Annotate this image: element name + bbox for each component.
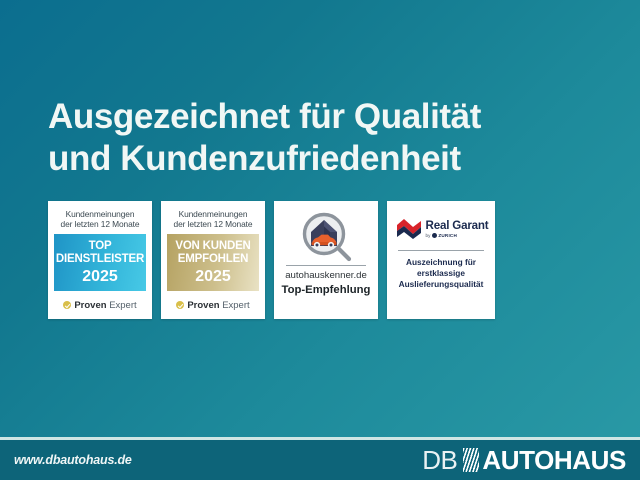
badge-award-line-1: TOP	[89, 240, 112, 253]
badge-award-line-1: VON KUNDEN	[175, 240, 250, 253]
zurich-wordmark: ZURICH	[438, 233, 457, 238]
logo-autohaus-text: AUTOHAUS	[482, 445, 626, 476]
badge-provenexpert-von-kunden-empfohlen[interactable]: Kundenmeinungen der letzten 12 Monate VO…	[161, 201, 265, 319]
badge-header-line-1: Kundenmeinungen	[161, 209, 265, 219]
headline-line-1: Ausgezeichnet für Qualität	[48, 96, 588, 138]
real-garant-award-line-1: Auszeichnung für	[406, 257, 476, 268]
badge-award-panel: VON KUNDEN EMPFOHLEN 2025	[167, 234, 259, 291]
logo-db-text: DB	[422, 445, 457, 476]
logo-stripes-icon	[463, 448, 479, 472]
real-garant-brand: Real Garant	[426, 220, 489, 232]
badge-autohauskenner-top-empfehlung[interactable]: autohauskenner.de Top-Empfehlung	[274, 201, 378, 319]
real-garant-award-line-3: Auslieferungsqualität	[399, 279, 484, 290]
real-garant-logo: Real Garant by ZURICH	[394, 218, 489, 240]
footer-website-url[interactable]: www.dbautohaus.de	[14, 453, 132, 467]
badge-header-line-1: Kundenmeinungen	[48, 209, 152, 219]
autohauskenner-site: autohauskenner.de	[285, 270, 367, 282]
check-circle-icon	[63, 301, 71, 309]
provenexpert-light: Expert	[222, 300, 249, 311]
by-label: by	[426, 233, 431, 238]
promotional-banner: Ausgezeichnet für Qualität und Kundenzuf…	[0, 0, 640, 480]
provenexpert-light: Expert	[109, 300, 136, 311]
award-badge-row: Kundenmeinungen der letzten 12 Monate TO…	[48, 201, 495, 319]
real-garant-underwriter: by ZURICH	[426, 233, 457, 238]
badge-award-line-2: DIENSTLEISTER	[56, 253, 144, 266]
badge-provenexpert-top-dienstleister[interactable]: Kundenmeinungen der letzten 12 Monate TO…	[48, 201, 152, 319]
provenexpert-bold: Proven	[187, 300, 219, 311]
page-title: Ausgezeichnet für Qualität und Kundenzuf…	[48, 96, 588, 180]
badge-award-panel: TOP DIENSTLEISTER 2025	[54, 234, 146, 291]
real-garant-award-line-2: erstklassige	[417, 268, 465, 279]
footer-bar: www.dbautohaus.de DB AUTOHAUS	[0, 440, 640, 480]
badge-header-line-2: der letzten 12 Monate	[48, 219, 152, 229]
provenexpert-wordmark: Proven Expert	[187, 300, 249, 311]
badge-award-year: 2025	[82, 267, 118, 286]
db-autohaus-logo[interactable]: DB AUTOHAUS	[422, 445, 626, 476]
badge-award-line-2: EMPFOHLEN	[178, 253, 248, 266]
divider	[398, 250, 484, 251]
provenexpert-logo: Proven Expert	[48, 291, 152, 319]
badge-header: Kundenmeinungen der letzten 12 Monate	[48, 201, 152, 229]
real-garant-text: Real Garant by ZURICH	[426, 220, 489, 239]
badge-real-garant[interactable]: Real Garant by ZURICH Auszeichnung für e…	[387, 201, 495, 319]
autohauskenner-award: Top-Empfehlung	[282, 283, 371, 297]
magnifier-house-car-icon	[299, 212, 353, 262]
provenexpert-bold: Proven	[74, 300, 106, 311]
badge-header: Kundenmeinungen der letzten 12 Monate	[161, 201, 265, 229]
badge-award-year: 2025	[195, 267, 231, 286]
real-garant-chevron-icon	[396, 218, 422, 240]
provenexpert-logo: Proven Expert	[161, 291, 265, 319]
zurich-dot-icon	[432, 233, 437, 238]
headline-line-2: und Kundenzufriedenheit	[48, 138, 588, 180]
divider	[286, 265, 366, 266]
check-circle-icon	[176, 301, 184, 309]
provenexpert-wordmark: Proven Expert	[74, 300, 136, 311]
badge-header-line-2: der letzten 12 Monate	[161, 219, 265, 229]
